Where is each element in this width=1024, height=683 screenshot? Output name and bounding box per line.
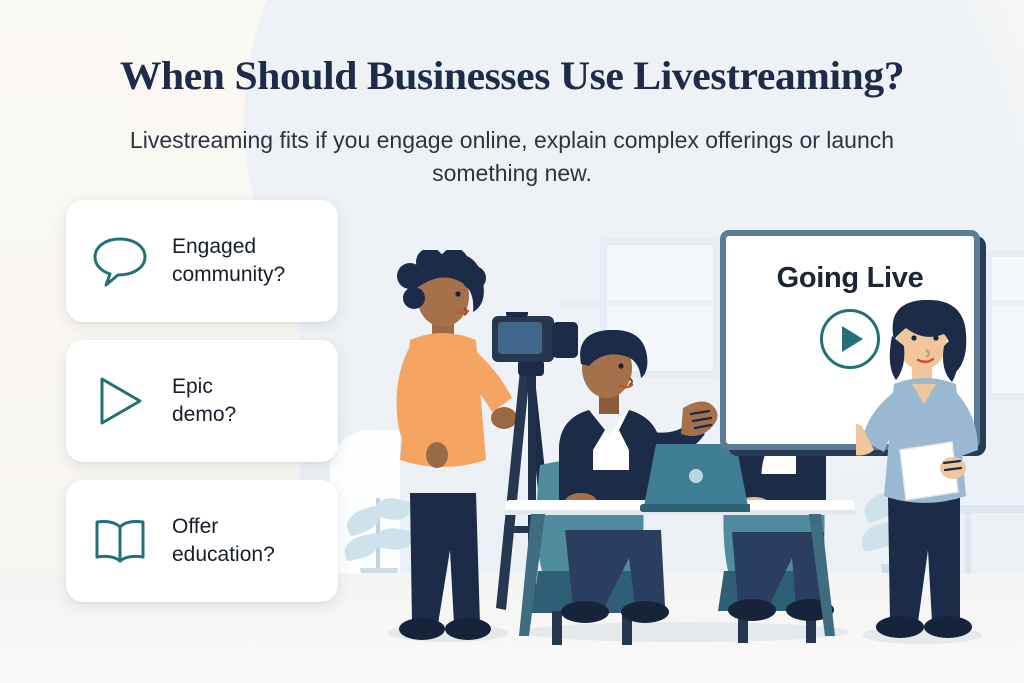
card-epic-demo[interactable]: Epic demo? bbox=[66, 340, 338, 462]
page-title: When Should Businesses Use Livestreaming… bbox=[0, 52, 1024, 99]
card-engaged-community[interactable]: Engaged community? bbox=[66, 200, 338, 322]
page-subtitle: Livestreaming fits if you engage online,… bbox=[82, 124, 942, 190]
card-line-2: demo? bbox=[172, 401, 236, 429]
card-offer-education[interactable]: Offer education? bbox=[66, 480, 338, 602]
card-line-2: education? bbox=[172, 541, 275, 569]
card-label-epic-demo: Epic demo? bbox=[172, 373, 236, 429]
prop-conference-table bbox=[505, 500, 855, 640]
open-book-icon bbox=[90, 511, 150, 571]
screen-title: Going Live bbox=[777, 262, 924, 295]
play-triangle-icon bbox=[90, 371, 150, 431]
card-label-offer-education: Offer education? bbox=[172, 513, 275, 569]
card-line-1: Epic bbox=[172, 373, 236, 401]
card-label-engaged-community: Engaged community? bbox=[172, 233, 285, 289]
table-svg bbox=[505, 500, 855, 640]
speech-bubble-icon bbox=[90, 231, 150, 291]
presenter-svg bbox=[856, 300, 1006, 645]
card-line-2: community? bbox=[172, 261, 285, 289]
card-line-1: Offer bbox=[172, 513, 275, 541]
figure-presenter bbox=[856, 300, 1006, 645]
infographic-canvas: When Should Businesses Use Livestreaming… bbox=[0, 0, 1024, 683]
card-line-1: Engaged bbox=[172, 233, 285, 261]
